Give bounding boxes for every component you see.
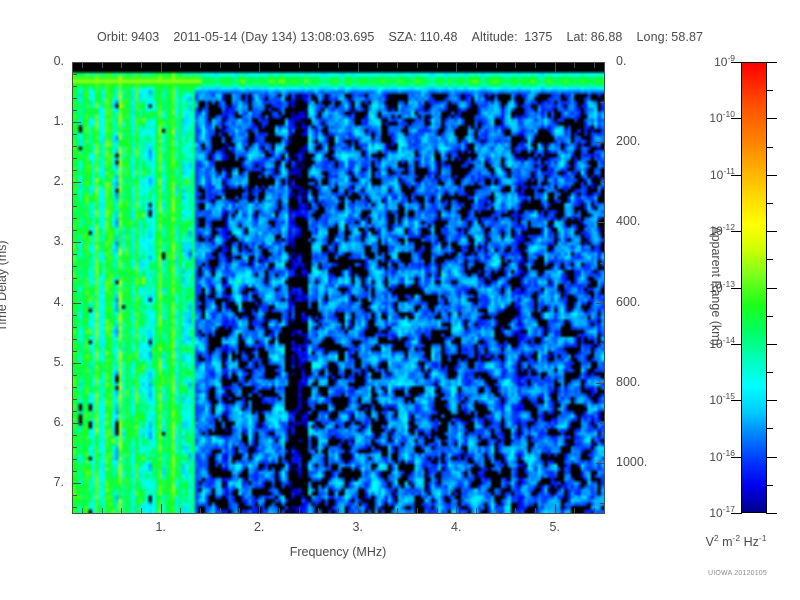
x-axis-minor-tick-top: [180, 63, 181, 68]
colorbar-minor-tick: [766, 147, 773, 148]
x-axis-minor-tick-top: [574, 63, 575, 68]
y-axis-right-tick-label: 800.: [616, 375, 666, 389]
y-axis-right-major-tick: [596, 463, 605, 464]
colorbar-minor-tick: [766, 372, 773, 373]
y-axis-right-minor-tick: [600, 263, 605, 264]
y-axis-right-major-tick: [596, 222, 605, 223]
y-axis-left-minor-tick: [72, 206, 77, 207]
colorbar-tick-label: 10-14: [679, 335, 735, 351]
y-axis-right-tick-label: 0.: [616, 54, 666, 68]
x-axis-major-tick-top: [259, 63, 260, 72]
y-axis-left-minor-tick: [72, 218, 77, 219]
x-axis-tick-label: 1.: [141, 520, 181, 534]
x-axis-minor-tick-top: [239, 63, 240, 68]
x-axis-minor-tick-top: [417, 63, 418, 68]
x-axis-minor-tick: [515, 508, 516, 513]
y-axis-left-minor-tick: [72, 170, 77, 171]
header-field-long: Long:58.87: [636, 30, 703, 44]
x-axis-minor-tick: [397, 508, 398, 513]
y-axis-left-minor-tick: [72, 507, 77, 508]
y-axis-left-minor-tick: [72, 266, 77, 267]
x-axis-minor-tick: [496, 508, 497, 513]
y-axis-right-tick-label: 400.: [616, 214, 666, 228]
x-axis-minor-tick: [82, 508, 83, 513]
y-axis-left-major-tick: [72, 122, 81, 123]
y-axis-left-tick-label: 7.: [20, 475, 64, 489]
x-axis-title: Frequency (MHz): [72, 545, 604, 559]
x-axis-minor-tick-top: [102, 63, 103, 68]
y-axis-left-minor-tick: [72, 399, 77, 400]
y-axis-right-major-tick: [596, 303, 605, 304]
x-axis-major-tick: [456, 504, 457, 513]
x-axis-minor-tick: [574, 508, 575, 513]
y-axis-left-minor-tick: [72, 110, 77, 111]
y-axis-left-minor-tick: [72, 387, 77, 388]
x-axis-minor-tick: [437, 508, 438, 513]
colorbar-major-tick: [766, 400, 777, 401]
y-axis-left-major-tick: [72, 62, 81, 63]
y-axis-left-minor-tick: [72, 411, 77, 412]
y-axis-left-major-tick: [72, 242, 81, 243]
x-axis-minor-tick: [594, 508, 595, 513]
header-field-orbit: Orbit:9403: [97, 30, 159, 44]
colorbar-major-tick: [766, 62, 777, 63]
x-axis-minor-tick: [121, 508, 122, 513]
y-axis-left-tick-label: 2.: [20, 174, 64, 188]
y-axis-left-major-tick: [72, 483, 81, 484]
x-axis-major-tick: [161, 504, 162, 513]
y-axis-left-minor-tick: [72, 291, 77, 292]
x-axis-minor-tick: [318, 508, 319, 513]
colorbar-major-tick: [766, 175, 777, 176]
y-axis-left-minor-tick: [72, 146, 77, 147]
colorbar-tick-label: 10-13: [679, 279, 735, 295]
y-axis-right-major-tick: [596, 383, 605, 384]
y-axis-right-minor-tick: [600, 182, 605, 183]
y-axis-left-minor-tick: [72, 315, 77, 316]
x-axis-major-tick: [259, 504, 260, 513]
y-axis-left-minor-tick: [72, 194, 77, 195]
colorbar-tick-label: 10-15: [679, 391, 735, 407]
y-axis-left-minor-tick: [72, 435, 77, 436]
y-axis-right-minor-tick: [600, 102, 605, 103]
y-axis-left-minor-tick: [72, 459, 77, 460]
x-axis-minor-tick-top: [318, 63, 319, 68]
x-axis-minor-tick-top: [220, 63, 221, 68]
y-axis-left-minor-tick: [72, 495, 77, 496]
y-axis-left-minor-tick: [72, 158, 77, 159]
x-axis-minor-tick: [476, 508, 477, 513]
y-axis-left-minor-tick: [72, 254, 77, 255]
y-axis-left-tick-label: 1.: [20, 114, 64, 128]
x-axis-minor-tick-top: [476, 63, 477, 68]
y-axis-left-major-tick: [72, 363, 81, 364]
colorbar-minor-tick: [766, 90, 773, 91]
x-axis-minor-tick: [535, 508, 536, 513]
x-axis-major-tick: [358, 504, 359, 513]
colorbar-tick-label: 10-16: [679, 448, 735, 464]
y-axis-right-major-tick: [596, 62, 605, 63]
colorbar-tick-label: 10-17: [679, 504, 735, 520]
header-field-lat: Lat:86.88: [566, 30, 622, 44]
colorbar-tick-label: 10-11: [679, 166, 735, 182]
ionogram-plot-area: [72, 62, 604, 513]
x-axis-major-tick-top: [358, 63, 359, 72]
colorbar-tick-label: 10-12: [679, 222, 735, 238]
x-axis-minor-tick: [239, 508, 240, 513]
x-axis-minor-tick-top: [397, 63, 398, 68]
y-axis-left-tick-label: 6.: [20, 415, 64, 429]
plot-frame-bottom: [72, 513, 605, 514]
plot-frame-right: [604, 62, 605, 514]
x-axis-minor-tick-top: [594, 63, 595, 68]
colorbar-minor-tick: [766, 428, 773, 429]
y-axis-left-tick-label: 3.: [20, 234, 64, 248]
colorbar-major-tick: [766, 344, 777, 345]
x-axis-minor-tick-top: [535, 63, 536, 68]
colorbar-major-tick: [766, 457, 777, 458]
y-axis-left-major-tick: [72, 423, 81, 424]
x-axis-tick-label: 4.: [436, 520, 476, 534]
x-axis-minor-tick-top: [496, 63, 497, 68]
x-axis-minor-tick-top: [299, 63, 300, 68]
x-axis-minor-tick-top: [279, 63, 280, 68]
y-axis-left-tick-label: 5.: [20, 355, 64, 369]
x-axis-tick-label: 5.: [535, 520, 575, 534]
y-axis-left-minor-tick: [72, 86, 77, 87]
y-axis-left-minor-tick: [72, 134, 77, 135]
x-axis-minor-tick-top: [437, 63, 438, 68]
y-axis-left-tick-label: 4.: [20, 295, 64, 309]
ionogram-heatmap: [72, 62, 604, 513]
header-field-timestamp: 2011-05-14 (Day 134) 13:08:03.695: [173, 30, 374, 44]
y-axis-left-minor-tick: [72, 471, 77, 472]
colorbar-tick-label: 10-9: [679, 53, 735, 69]
y-axis-left-minor-tick: [72, 98, 77, 99]
header-field-altitude: Altitude: 1375: [472, 30, 553, 44]
page-title: Orbit:94032011-05-14 (Day 134) 13:08:03.…: [0, 30, 800, 44]
x-axis-minor-tick: [180, 508, 181, 513]
x-axis-minor-tick: [279, 508, 280, 513]
y-axis-right-minor-tick: [600, 423, 605, 424]
x-axis-minor-tick: [220, 508, 221, 513]
x-axis-major-tick-top: [456, 63, 457, 72]
y-axis-left-title: Time Delay (ms): [0, 196, 9, 376]
y-axis-right-minor-tick: [600, 503, 605, 504]
x-axis-major-tick: [555, 504, 556, 513]
x-axis-minor-tick-top: [200, 63, 201, 68]
x-axis-tick-label: 3.: [338, 520, 378, 534]
colorbar-units-label: V2 m-2 Hz-1: [676, 533, 796, 549]
y-axis-left-major-tick: [72, 182, 81, 183]
colorbar-major-tick: [766, 513, 777, 514]
y-axis-right-tick-label: 200.: [616, 134, 666, 148]
y-axis-right-tick-label: 600.: [616, 295, 666, 309]
x-axis-minor-tick-top: [141, 63, 142, 68]
x-axis-minor-tick: [299, 508, 300, 513]
y-axis-left-minor-tick: [72, 74, 77, 75]
x-axis-major-tick-top: [161, 63, 162, 72]
y-axis-right-tick-label: 1000.: [616, 455, 666, 469]
colorbar-minor-tick: [766, 485, 773, 486]
x-axis-minor-tick-top: [377, 63, 378, 68]
y-axis-left-minor-tick: [72, 278, 77, 279]
y-axis-left-minor-tick: [72, 339, 77, 340]
x-axis-minor-tick: [417, 508, 418, 513]
x-axis-tick-label: 2.: [239, 520, 279, 534]
y-axis-right-major-tick: [596, 142, 605, 143]
y-axis-left-minor-tick: [72, 327, 77, 328]
x-axis-minor-tick-top: [338, 63, 339, 68]
y-axis-right-minor-tick: [600, 343, 605, 344]
x-axis-minor-tick: [141, 508, 142, 513]
colorbar-major-tick: [766, 231, 777, 232]
colorbar-major-tick: [766, 118, 777, 119]
colorbar-minor-tick: [766, 316, 773, 317]
x-axis-major-tick-top: [555, 63, 556, 72]
x-axis-minor-tick: [377, 508, 378, 513]
y-axis-left-minor-tick: [72, 351, 77, 352]
credit-label: UIOWA 20120105: [680, 570, 795, 577]
x-axis-minor-tick-top: [515, 63, 516, 68]
x-axis-minor-tick: [200, 508, 201, 513]
colorbar-minor-tick: [766, 259, 773, 260]
colorbar-minor-tick: [766, 203, 773, 204]
colorbar-major-tick: [766, 288, 777, 289]
colorbar: [741, 62, 767, 513]
x-axis-minor-tick: [338, 508, 339, 513]
y-axis-left-minor-tick: [72, 375, 77, 376]
header-field-sza: SZA:110.48: [388, 30, 457, 44]
colorbar-tick-label: 10-10: [679, 109, 735, 125]
x-axis-minor-tick: [102, 508, 103, 513]
plot-frame-left: [72, 62, 73, 513]
y-axis-left-minor-tick: [72, 447, 77, 448]
y-axis-left-tick-label: 0.: [20, 54, 64, 68]
x-axis-minor-tick-top: [82, 63, 83, 68]
y-axis-left-major-tick: [72, 303, 81, 304]
x-axis-minor-tick-top: [121, 63, 122, 68]
y-axis-left-minor-tick: [72, 230, 77, 231]
